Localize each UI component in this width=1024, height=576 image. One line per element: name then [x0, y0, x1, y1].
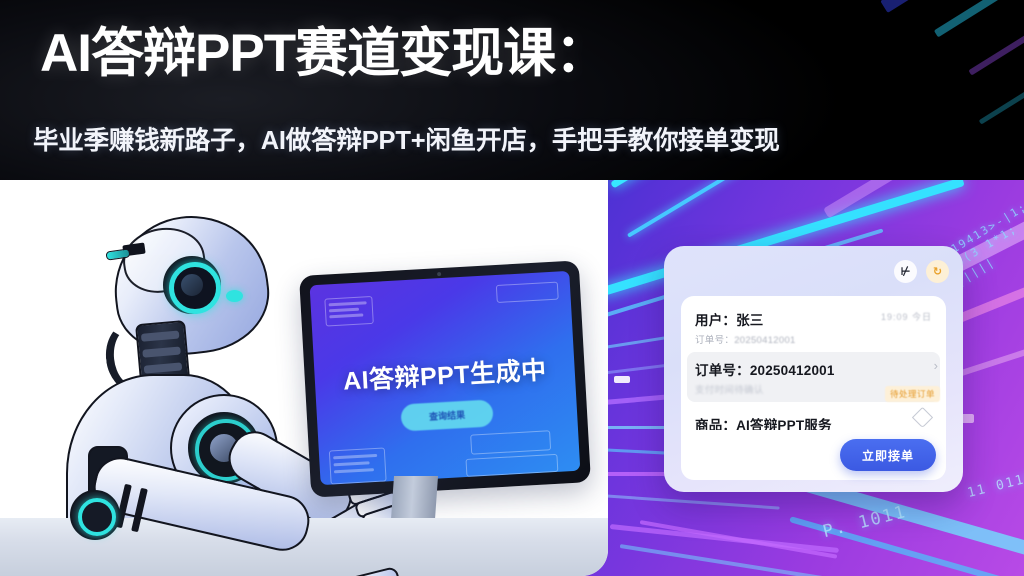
neon-ribbon — [620, 544, 868, 576]
robot-eye-pupil — [179, 272, 205, 298]
sub-order-label: 订单号： — [695, 335, 734, 346]
monitor-screen-button[interactable]: 查询结果 — [400, 399, 493, 431]
screen-placeholder-block — [470, 430, 551, 454]
binary-text: P. 1011 — [821, 502, 909, 542]
accept-order-button[interactable]: 立即接单 — [840, 439, 936, 471]
data-chip — [614, 376, 630, 383]
promo-banner: 11 19413>-|1; 71*910(3 1*1; 0||||||| 11 … — [0, 0, 1024, 576]
neon-ribbon — [789, 516, 1021, 576]
title-banner: AI答辩PPT赛道变现课： 毕业季赚钱新路子，AI做答辩PPT+闲鱼开店，手把手… — [0, 0, 1024, 180]
card-footer: 立即接单 — [681, 430, 946, 480]
robot-ear-light — [226, 290, 243, 302]
header-streak — [934, 0, 1024, 37]
user-value: 张三 — [736, 313, 763, 328]
binary-text: 11 0110 1001 — [966, 458, 1024, 501]
order-card: ⊬ ↻ 用户：张三 19:09 今日 订单号：20250412001 订单号：2… — [664, 246, 963, 492]
page-subtitle: 毕业季赚钱新路子，AI做答辩PPT+闲鱼开店，手把手教你接单变现 — [33, 120, 993, 157]
order-row-user: 用户：张三 19:09 今日 订单号：20250412001 — [695, 309, 932, 346]
order-no-label: 订单号： — [695, 363, 750, 378]
order-row-order-no[interactable]: 订单号：20250412001 › 支付时间待确认 待处理订单 — [687, 352, 940, 402]
order-no-line: 订单号：20250412001 — [695, 359, 932, 379]
page-title: AI答辩PPT赛道变现课： — [40, 26, 760, 82]
neon-ribbon — [600, 494, 780, 510]
order-no-value: 20250412001 — [750, 363, 835, 378]
order-timestamp: 19:09 今日 — [881, 310, 932, 323]
screen-placeholder-block — [496, 282, 559, 303]
neon-ribbon — [600, 472, 670, 476]
monitor-screen-title: AI答辩PPT生成中 — [314, 349, 576, 399]
sub-order-value: 20250412001 — [734, 335, 795, 346]
monitor: AI答辩PPT生成中 查询结果 — [299, 260, 591, 497]
refresh-icon[interactable]: ↻ — [926, 260, 949, 283]
header-streak — [880, 0, 1024, 13]
robot-scene-panel: AI答辩PPT生成中 查询结果 — [0, 176, 608, 576]
robot-arm-joint-ring — [78, 498, 116, 536]
neon-ribbon — [627, 176, 903, 238]
status-badge: 待处理订单 — [885, 386, 940, 402]
user-sub-line: 订单号：20250412001 — [695, 332, 932, 346]
neon-ribbon — [610, 524, 839, 553]
neon-ribbon — [640, 520, 838, 559]
user-label: 用户： — [695, 313, 736, 328]
chevron-right-icon[interactable]: › — [934, 358, 938, 373]
layout-icon[interactable]: ⊬ — [894, 260, 917, 283]
card-toolbar: ⊬ ↻ — [894, 260, 949, 283]
neon-ribbon — [823, 176, 1024, 218]
monitor-screen: AI答辩PPT生成中 查询结果 — [310, 271, 581, 485]
